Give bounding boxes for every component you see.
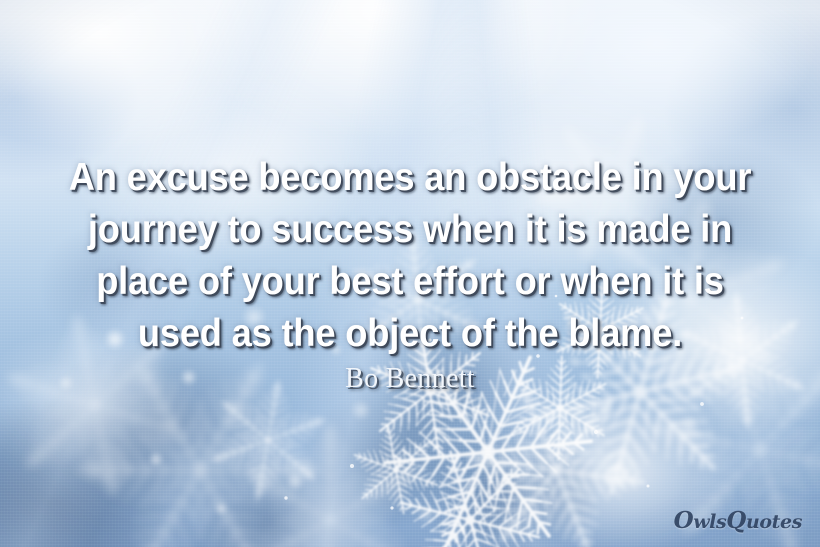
quote-author: Bo Bennett [0, 362, 820, 396]
quote-line-3: place of your best effort or when it is [29, 256, 792, 308]
quote-poster: An excuse becomes an obstacle in your jo… [0, 0, 820, 547]
owlsquotes-watermark[interactable]: OwlsQuotes [674, 510, 802, 533]
quote-line-2: journey to success when it is made in [29, 204, 792, 256]
quote-line-4: used as the object of the blame. [29, 308, 792, 360]
quote-text-block: An excuse becomes an obstacle in your jo… [0, 152, 820, 360]
watermark-part-o: O [674, 507, 694, 534]
watermark-part-wls: wls [693, 511, 726, 533]
quote-line-1: An excuse becomes an obstacle in your [29, 152, 792, 204]
watermark-part-uotes: uotes [746, 511, 802, 533]
watermark-part-q: Q [726, 507, 746, 534]
